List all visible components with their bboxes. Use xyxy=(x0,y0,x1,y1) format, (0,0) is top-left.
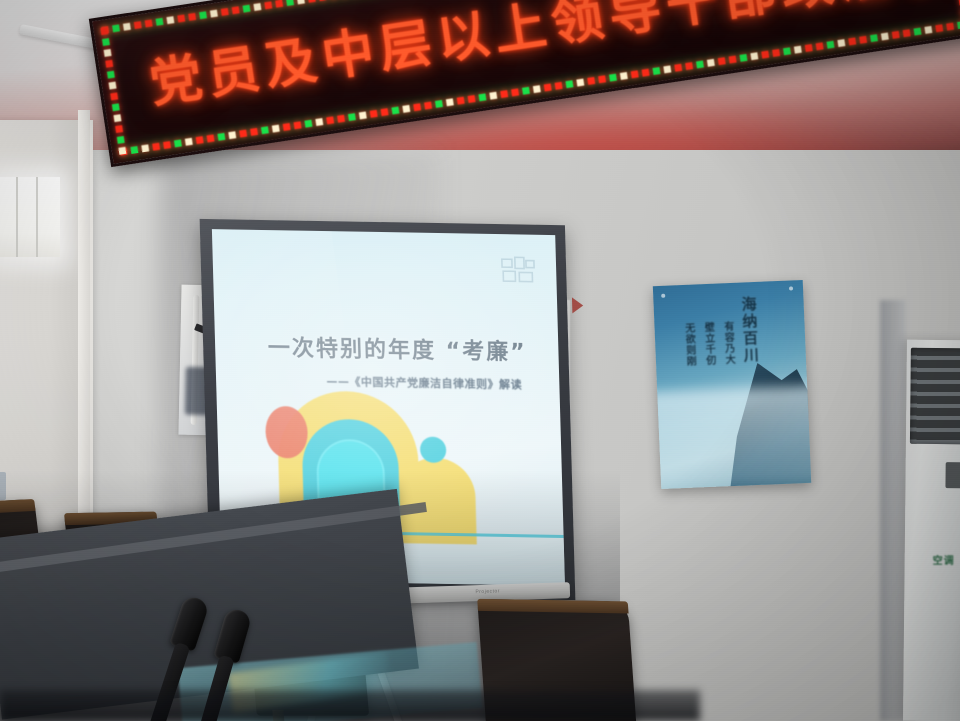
screen-edge-marker xyxy=(572,297,583,313)
wall-art-poster: 海纳百川 有容乃大 壁立千仞 无欲则刚 xyxy=(653,280,811,489)
ac-control-panel[interactable] xyxy=(945,462,960,488)
poster-calligraphy: 海纳百川 有容乃大 壁立千仞 无欲则刚 xyxy=(669,296,761,449)
floor-shadow xyxy=(0,690,700,721)
meeting-room-photo: 党员及中层以上领导干部政治学习 一次特别的年度 “考廉” ——《中国共产党廉洁 xyxy=(0,0,960,721)
poster-column-3: 壁立千仞 xyxy=(702,322,718,448)
poster-column-1: 海纳百川 xyxy=(740,296,762,447)
poster-column-4: 无欲则刚 xyxy=(682,323,698,449)
wall-corner-edge xyxy=(880,300,906,721)
poster-column-2: 有容乃大 xyxy=(721,321,737,447)
ac-brand-label: 空调 xyxy=(933,552,955,567)
air-conditioner: 空调 xyxy=(903,340,960,721)
window-pane xyxy=(0,177,60,257)
ac-vent-grille xyxy=(910,348,960,445)
